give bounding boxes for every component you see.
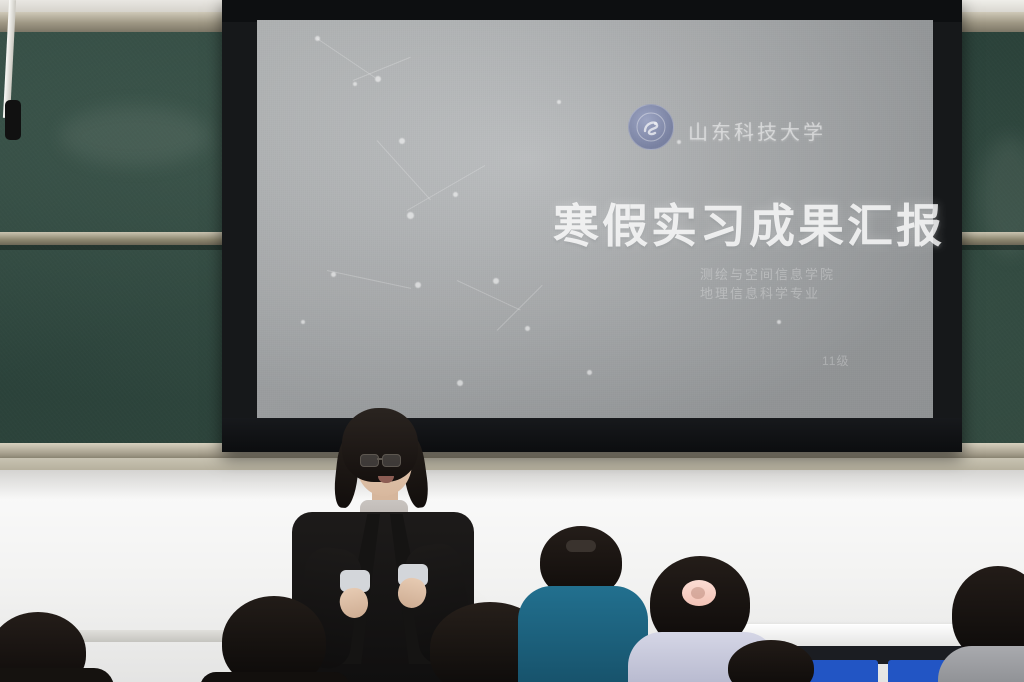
star-dot <box>301 320 305 324</box>
star-dot <box>587 370 592 375</box>
rod-tip <box>5 100 21 140</box>
star-dot <box>407 212 414 219</box>
pink-hair-bow <box>682 580 716 606</box>
star-dot <box>493 278 499 284</box>
chalk-smudge <box>60 106 210 166</box>
star-dot <box>453 192 458 197</box>
star-dot <box>525 326 530 331</box>
wall-shadow <box>0 470 1024 500</box>
slide-subtitle-line-2: 地理信息科学专业 <box>700 283 820 302</box>
star-dot <box>415 282 421 288</box>
eyeglasses-left-lens-icon <box>360 454 379 467</box>
star-dot <box>457 380 463 386</box>
audience-member-1-body <box>0 668 114 682</box>
classroom-photo: 山东科技大学 寒假实习成果汇报 测绘与空间信息学院 地理信息科学专业 11级 <box>0 0 1024 682</box>
eyeglasses-right-lens-icon <box>382 454 401 467</box>
star-dot <box>399 138 405 144</box>
star-dot <box>315 36 320 41</box>
star-dot <box>353 82 357 86</box>
star-dot <box>557 100 561 104</box>
star-dot <box>677 140 681 144</box>
star-dot <box>375 76 381 82</box>
audience-member-2-head <box>222 596 326 682</box>
projection-screen-top-bar <box>222 0 962 22</box>
eyeglasses-bridge-icon <box>377 458 382 460</box>
star-dot <box>777 320 781 324</box>
slide-university-name: 山东科技大学 <box>688 116 826 145</box>
audience-member-4-hair-clip <box>566 540 596 552</box>
presenter-hair <box>342 408 418 482</box>
audience-member-2-body <box>200 672 350 682</box>
shandong-university-of-science-and-technology-emblem-icon <box>628 104 674 150</box>
slide-subtitle-line-1: 测绘与空间信息学院 <box>700 264 835 283</box>
slide-corner-mark: 11级 <box>822 352 849 369</box>
star-dot <box>331 272 336 277</box>
slide-title: 寒假实习成果汇报 <box>553 190 945 256</box>
